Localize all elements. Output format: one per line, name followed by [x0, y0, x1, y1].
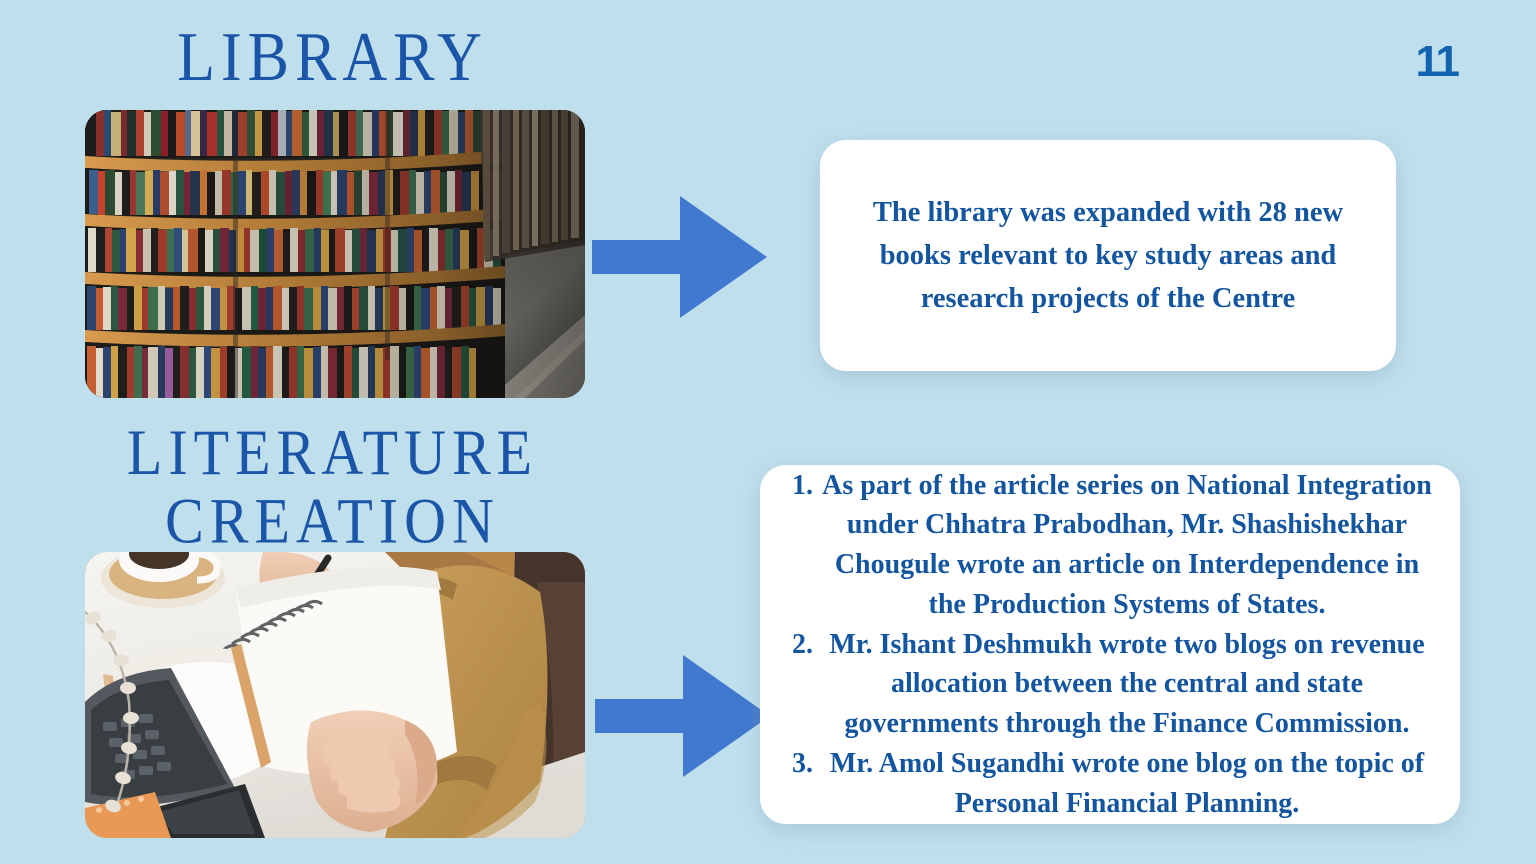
library-photo-art — [85, 110, 585, 398]
literature-creation-list: As part of the article series on Nationa… — [786, 466, 1434, 824]
page-number: 11 — [1415, 40, 1458, 84]
literature-creation-image — [85, 552, 585, 838]
slide-canvas: 11 LIBRARY — [0, 0, 1536, 864]
library-card-text: The library was expanded with 28 new boo… — [864, 191, 1352, 321]
library-bookshelves-image — [85, 110, 585, 398]
right-arrow-icon-literature — [595, 655, 770, 777]
section-heading-library: LIBRARY — [80, 22, 585, 96]
section-heading-literature-creation: LITERATURE CREATION — [80, 418, 585, 556]
library-info-card: The library was expanded with 28 new boo… — [820, 140, 1396, 371]
list-item: Mr. Amol Sugandhi wrote one blog on the … — [820, 744, 1434, 824]
literature-creation-info-card: As part of the article series on Nationa… — [760, 465, 1460, 824]
right-arrow-icon-library — [592, 196, 767, 318]
list-item: As part of the article series on Nationa… — [820, 466, 1434, 625]
writing-desk-photo-art — [85, 552, 585, 838]
list-item: Mr. Ishant Deshmukh wrote two blogs on r… — [820, 625, 1434, 744]
